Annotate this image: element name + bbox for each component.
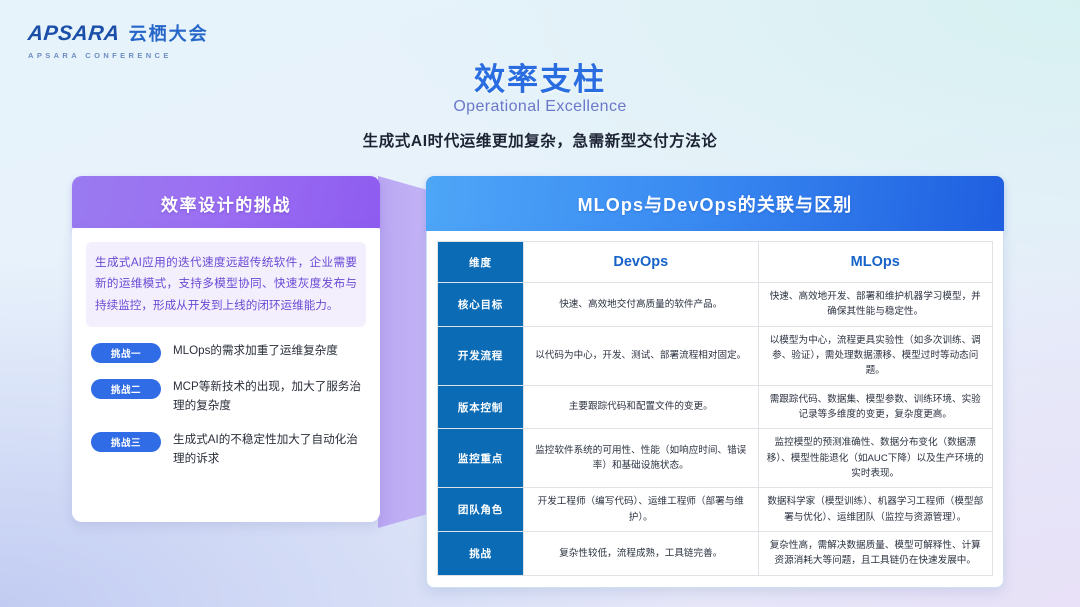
- table-row: 团队角色 开发工程师（编写代码）、运维工程师（部署与维护）。 数据科学家（模型训…: [438, 488, 993, 532]
- page-title-chinese: 效率支柱: [0, 54, 1080, 99]
- table-row: 版本控制 主要跟踪代码和配置文件的变更。 需跟踪代码、数据集、模型参数、训练环境…: [438, 385, 993, 429]
- comparison-card-header: MLOps与DevOps的关联与区别: [426, 176, 1004, 231]
- challenges-card-title: 效率设计的挑战: [161, 191, 291, 216]
- list-item[interactable]: 挑战三 生成式AI的不稳定性加大了自动化治理的诉求: [86, 430, 366, 468]
- table-row: 开发流程 以代码为中心，开发、测试、部署流程相对固定。 以模型为中心，流程更具实…: [438, 326, 993, 385]
- cell-mlops: 需跟踪代码、数据集、模型参数、训练环境、实验记录等多维度的变更，复杂度更高。: [758, 385, 993, 429]
- status-badge: 挑战二: [91, 379, 161, 399]
- cell-mlops: 复杂性高，需解决数据质量、模型可解释性、计算资源消耗大等问题，且工具链仍在快速发…: [758, 532, 993, 576]
- cell-devops: 复杂性较低，流程成熟，工具链完善。: [524, 532, 758, 576]
- challenges-card-header: 效率设计的挑战: [72, 176, 380, 230]
- cell-mlops: 监控模型的预测准确性、数据分布变化（数据漂移）、模型性能退化（如AUC下降）以及…: [758, 429, 993, 488]
- list-item-label: 生成式AI的不稳定性加大了自动化治理的诉求: [173, 430, 366, 468]
- row-dimension-label: 监控重点: [438, 429, 524, 488]
- cell-devops: 监控软件系统的可用性、性能（如响应时间、错误率）和基础设施状态。: [524, 429, 758, 488]
- table-header: 维度 DevOps MLOps: [438, 242, 993, 283]
- column-header-devops: DevOps: [524, 242, 758, 283]
- row-dimension-label: 挑战: [438, 532, 524, 576]
- page-title-english: Operational Excellence: [0, 98, 1080, 116]
- list-item-label: MLOps的需求加重了运维复杂度: [173, 341, 366, 360]
- slide-canvas: APSARA 云栖大会 APSARA CONFERENCE 效率支柱 Opera…: [0, 0, 1080, 607]
- cell-devops: 主要跟踪代码和配置文件的变更。: [524, 385, 758, 429]
- column-header-dimension: 维度: [438, 242, 524, 283]
- status-badge: 挑战三: [91, 432, 161, 452]
- column-header-mlops: MLOps: [758, 242, 993, 283]
- table-row: 核心目标 快速、高效地交付高质量的软件产品。 快速、高效地开发、部署和维护机器学…: [438, 283, 993, 327]
- cell-devops: 开发工程师（编写代码）、运维工程师（部署与维护）。: [524, 488, 758, 532]
- cell-devops: 以代码为中心，开发、测试、部署流程相对固定。: [524, 326, 758, 385]
- challenges-intro-text: 生成式AI应用的迭代速度远超传统软件，企业需要新的运维模式，支持多模型协同、快速…: [86, 242, 366, 327]
- row-dimension-label: 核心目标: [438, 283, 524, 327]
- table-row: 监控重点 监控软件系统的可用性、性能（如响应时间、错误率）和基础设施状态。 监控…: [438, 429, 993, 488]
- list-item[interactable]: 挑战二 MCP等新技术的出现，加大了服务治理的复杂度: [86, 377, 366, 415]
- table-row: 挑战 复杂性较低，流程成熟，工具链完善。 复杂性高，需解决数据质量、模型可解释性…: [438, 532, 993, 576]
- logo-apsara-text: APSARA: [27, 22, 121, 46]
- table-body: 核心目标 快速、高效地交付高质量的软件产品。 快速、高效地开发、部署和维护机器学…: [438, 283, 993, 576]
- cell-mlops: 以模型为中心，流程更具实验性（如多次训练、调参、验证），需处理数据漂移、模型过时…: [758, 326, 993, 385]
- row-dimension-label: 团队角色: [438, 488, 524, 532]
- challenges-card-body: 生成式AI应用的迭代速度远超传统软件，企业需要新的运维模式，支持多模型协同、快速…: [72, 228, 380, 522]
- list-item[interactable]: 挑战一 MLOps的需求加重了运维复杂度: [86, 341, 366, 363]
- cell-devops: 快速、高效地交付高质量的软件产品。: [524, 283, 758, 327]
- comparison-card-body: 维度 DevOps MLOps 核心目标 快速、高效地交付高质量的软件产品。 快…: [426, 231, 1004, 588]
- table-header-row: 维度 DevOps MLOps: [438, 242, 993, 283]
- cell-mlops: 快速、高效地开发、部署和维护机器学习模型，并确保其性能与稳定性。: [758, 283, 993, 327]
- comparison-card-title: MLOps与DevOps的关联与区别: [578, 191, 853, 217]
- list-item-label: MCP等新技术的出现，加大了服务治理的复杂度: [173, 377, 366, 415]
- logo-chinese-text: 云栖大会: [129, 20, 209, 46]
- logo-wordmark-row: APSARA 云栖大会: [28, 20, 209, 46]
- cell-mlops: 数据科学家（模型训练）、机器学习工程师（模型部署与优化）、运维团队（监控与资源管…: [758, 488, 993, 532]
- comparison-card: MLOps与DevOps的关联与区别 维度 DevOps MLOps 核心目标: [426, 176, 1004, 588]
- challenges-card: 效率设计的挑战 生成式AI应用的迭代速度远超传统软件，企业需要新的运维模式，支持…: [72, 176, 380, 522]
- status-badge: 挑战一: [91, 343, 161, 363]
- challenge-list: 挑战一 MLOps的需求加重了运维复杂度 挑战二 MCP等新技术的出现，加大了服…: [86, 341, 366, 468]
- comparison-table: 维度 DevOps MLOps 核心目标 快速、高效地交付高质量的软件产品。 快…: [437, 241, 993, 576]
- row-dimension-label: 版本控制: [438, 385, 524, 429]
- row-dimension-label: 开发流程: [438, 326, 524, 385]
- page-subtitle: 生成式AI时代运维更加复杂，急需新型交付方法论: [0, 129, 1080, 151]
